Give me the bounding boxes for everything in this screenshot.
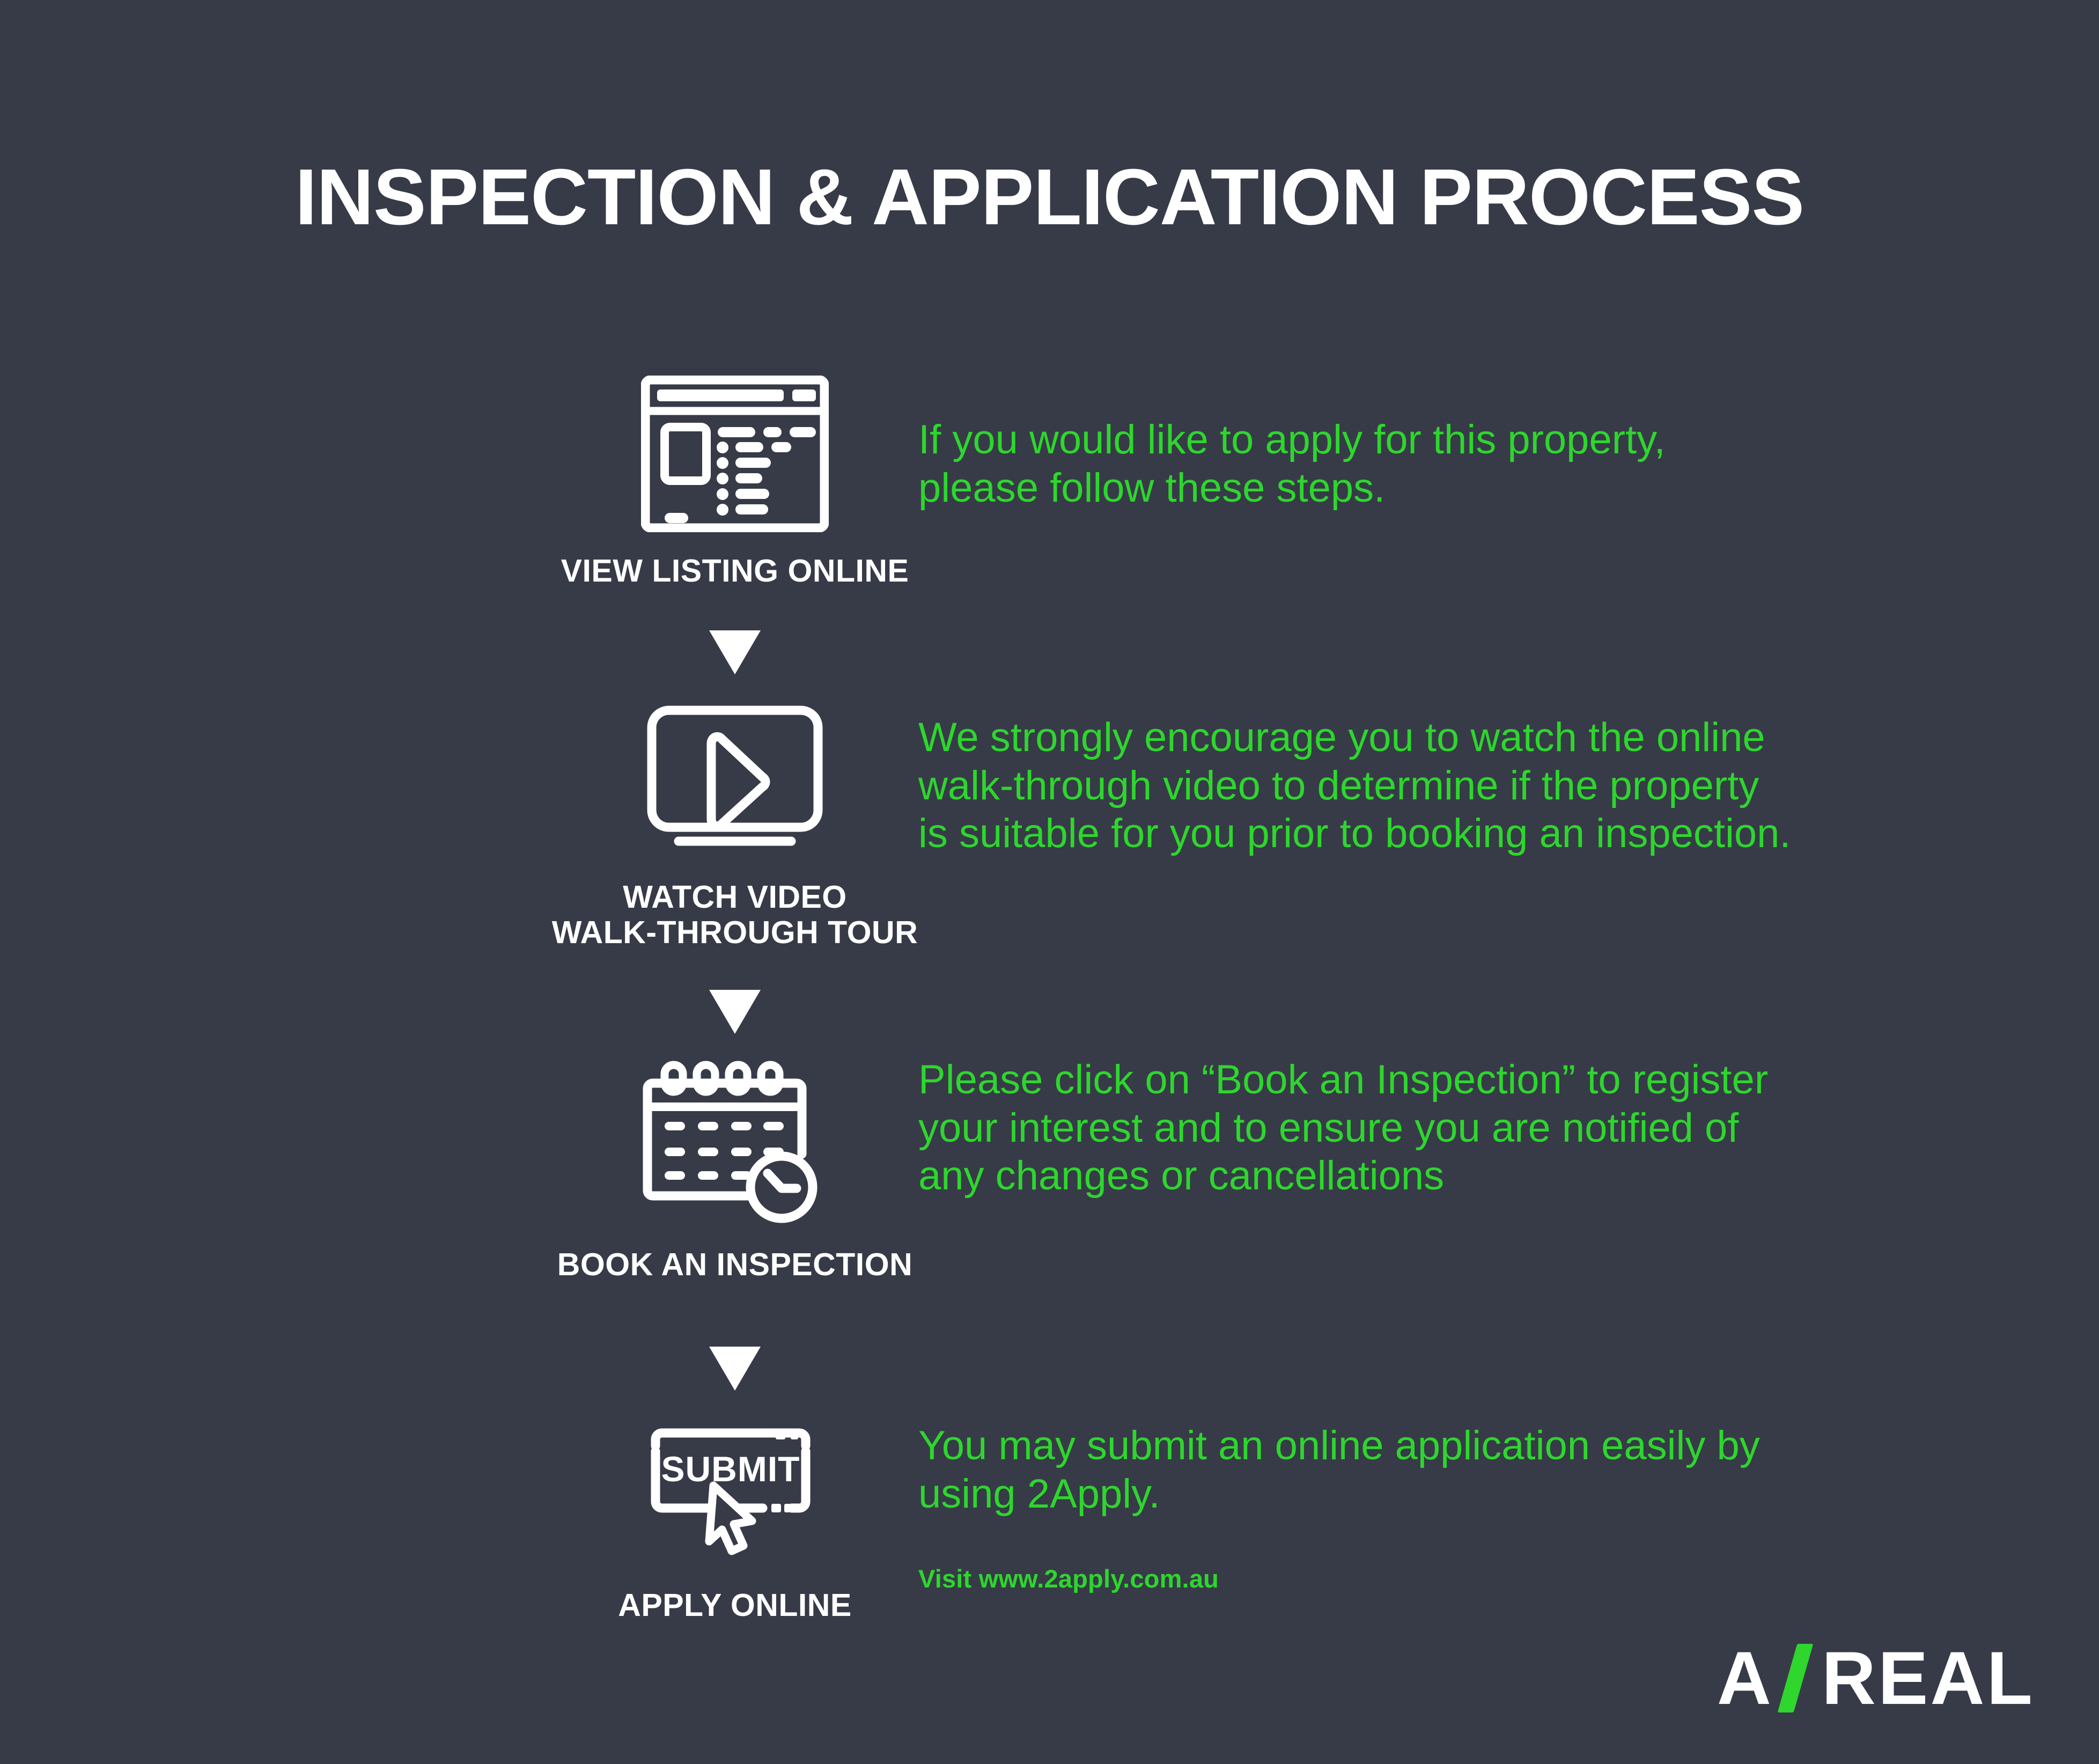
connector-arrow-3: [338, 1347, 1132, 1391]
copy-line: If you would like to apply for this prop…: [918, 416, 1938, 464]
copy-line: any changes or cancellations: [918, 1152, 1938, 1200]
step-label-line: WALK-THROUGH TOUR: [338, 915, 1132, 950]
copy-line: please follow these steps.: [918, 464, 1938, 512]
connector-arrow-2: [338, 990, 1132, 1034]
copy-block-inspection: Please click on “Book an Inspection” to …: [918, 1056, 1938, 1200]
copy-block-submit: You may submit an online application eas…: [918, 1422, 1938, 1518]
copy-line: We strongly encourage you to watch the o…: [918, 714, 1938, 762]
down-triangle-arrow-icon: [338, 990, 1132, 1034]
step-label-line: WATCH VIDEO: [338, 879, 1132, 915]
process-flow: VIEW LISTING ONLINE WATCH VIDEO WALK-THR…: [0, 0, 2099, 1764]
copy-line: using 2Apply.: [918, 1470, 1938, 1518]
step-label-line: BOOK AN INSPECTION: [338, 1247, 1132, 1282]
logo-slash-icon: [1781, 1644, 1813, 1712]
copy-line: your interest and to ensure you are noti…: [918, 1104, 1938, 1152]
svg-text:SUBMIT: SUBMIT: [661, 1449, 800, 1489]
copy-block-apply: If you would like to apply for this prop…: [918, 416, 1938, 512]
down-triangle-arrow-icon: [338, 630, 1132, 674]
step-label: WATCH VIDEO WALK-THROUGH TOUR: [338, 879, 1132, 950]
down-triangle-arrow-icon: [338, 1347, 1132, 1391]
brand-logo: A REAL: [1717, 1641, 2035, 1716]
logo-text-left: A: [1717, 1641, 1773, 1716]
copy-line: You may submit an online application eas…: [918, 1422, 1938, 1470]
visit-url-link[interactable]: Visit www.2apply.com.au: [918, 1564, 1219, 1593]
logo-text-right: REAL: [1822, 1641, 2035, 1716]
copy-block-video: We strongly encourage you to watch the o…: [918, 714, 1938, 858]
copy-line: Please click on “Book an Inspection” to …: [918, 1056, 1938, 1104]
connector-arrow-1: [338, 630, 1132, 674]
step-label-line: VIEW LISTING ONLINE: [338, 553, 1132, 589]
step-label: VIEW LISTING ONLINE: [338, 553, 1132, 589]
copy-line: walk-through video to determine if the p…: [918, 762, 1938, 810]
copy-line: is suitable for you prior to booking an …: [918, 810, 1938, 858]
step-label: BOOK AN INSPECTION: [338, 1247, 1132, 1282]
